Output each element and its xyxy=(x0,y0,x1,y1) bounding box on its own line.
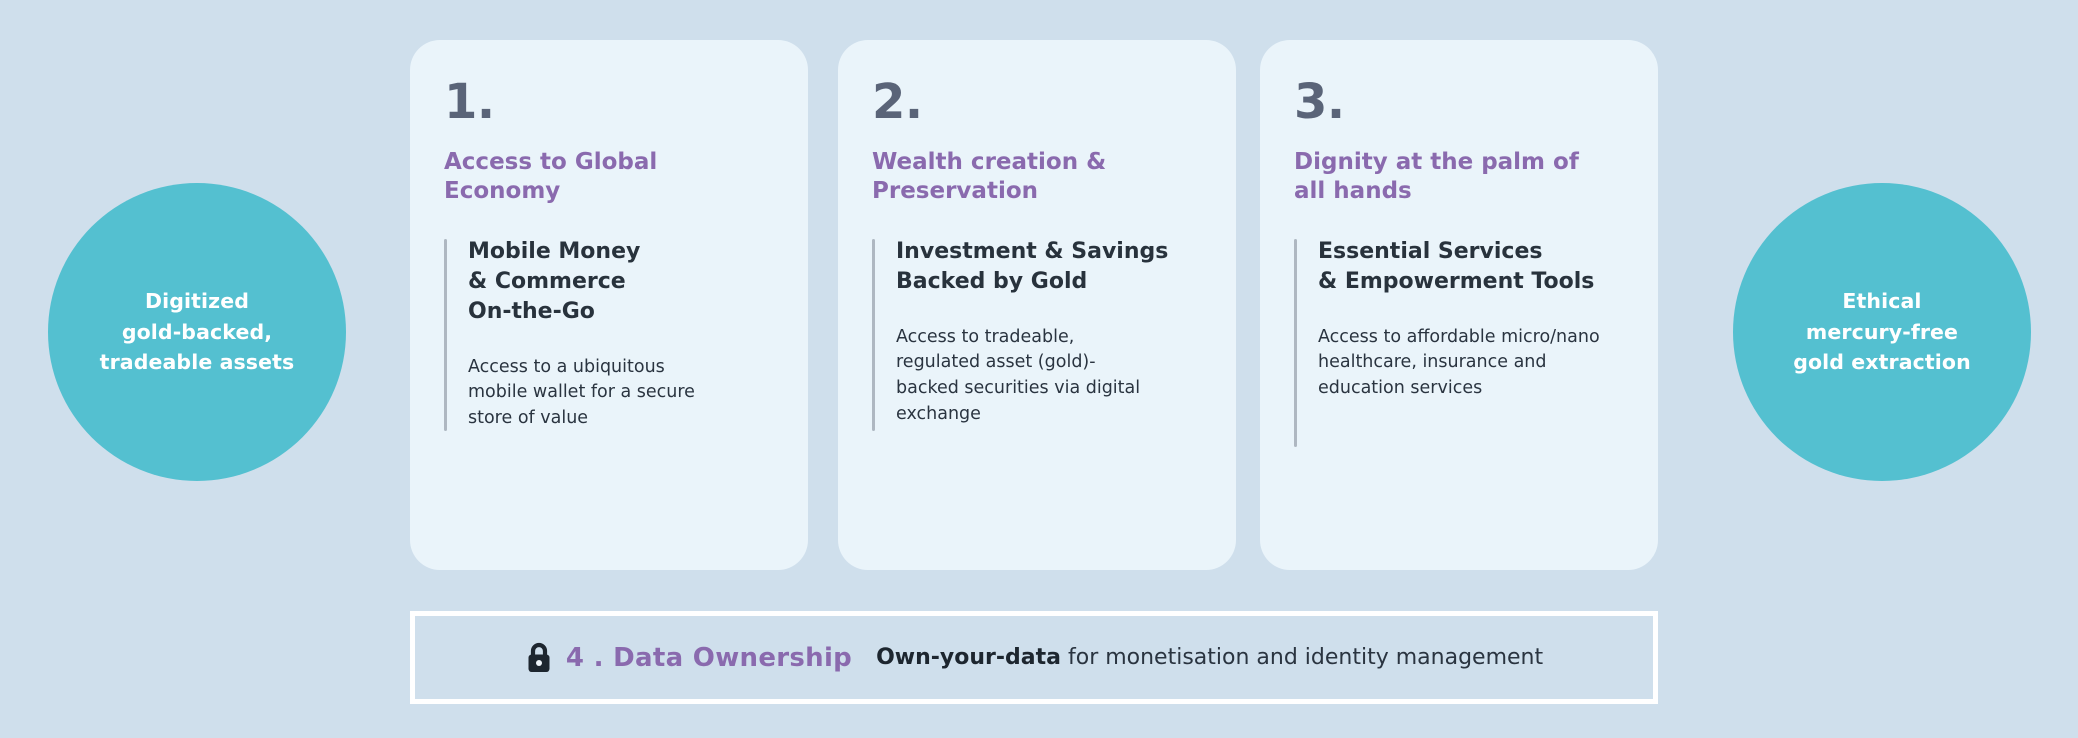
circle-digitized-assets: Digitized gold-backed, tradeable assets xyxy=(48,183,346,481)
accent-bar-icon xyxy=(444,239,447,431)
card-1-subtitle: Mobile Money & Commerce On-the-Go xyxy=(468,237,774,327)
data-ownership-label: 4 . Data Ownership xyxy=(566,643,852,673)
card-1-number: 1. xyxy=(444,78,774,126)
card-2-heading: Wealth creation & Preservation xyxy=(872,148,1202,207)
card-access-to-global-economy[interactable]: 1. Access to Global Economy Mobile Money… xyxy=(410,40,808,570)
circle-left-text: Digitized gold-backed, tradeable assets xyxy=(78,286,317,378)
card-3-subtitle: Essential Services & Empowerment Tools xyxy=(1318,237,1624,297)
accent-bar-icon xyxy=(872,239,875,431)
own-your-data-rest: for monetisation and identity management xyxy=(1068,645,1543,670)
card-1-heading: Access to Global Economy xyxy=(444,148,774,207)
data-ownership-bar[interactable]: 4 . Data Ownership Own-your-data for mon… xyxy=(410,611,1658,704)
card-2-number: 2. xyxy=(872,78,1202,126)
circle-right-text: Ethical mercury-free gold extraction xyxy=(1771,286,1993,378)
card-3-heading: Dignity at the palm of all hands xyxy=(1294,148,1624,207)
card-3-description: Access to affordable micro/nano healthca… xyxy=(1318,325,1624,402)
infographic-canvas: Digitized gold-backed, tradeable assets … xyxy=(0,0,2078,738)
card-1-description: Access to a ubiquitous mobile wallet for… xyxy=(468,355,774,432)
card-3-number: 3. xyxy=(1294,78,1624,126)
card-2-subtitle: Investment & Savings Backed by Gold xyxy=(896,237,1202,297)
card-3-body: Essential Services & Empowerment Tools A… xyxy=(1294,237,1624,402)
own-your-data-strong: Own-your-data xyxy=(876,645,1061,670)
card-2-body: Investment & Savings Backed by Gold Acce… xyxy=(872,237,1202,428)
card-wealth-creation-preservation[interactable]: 2. Wealth creation & Preservation Invest… xyxy=(838,40,1236,570)
card-dignity-at-the-palm-of-all-hands[interactable]: 3. Dignity at the palm of all hands Esse… xyxy=(1260,40,1658,570)
lock-icon xyxy=(525,641,553,675)
circle-ethical-gold-extraction: Ethical mercury-free gold extraction xyxy=(1733,183,2031,481)
accent-bar-icon xyxy=(1294,239,1297,447)
card-1-body: Mobile Money & Commerce On-the-Go Access… xyxy=(444,237,774,432)
card-2-description: Access to tradeable, regulated asset (go… xyxy=(896,325,1202,428)
